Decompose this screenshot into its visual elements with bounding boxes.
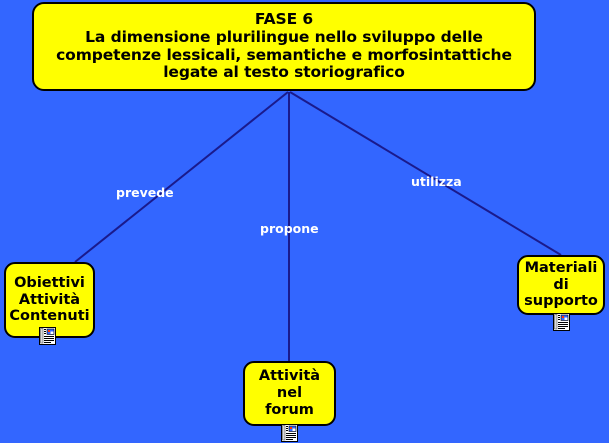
edge-label-propone: propone <box>260 221 319 236</box>
note-attachment-icon[interactable] <box>39 327 56 345</box>
edge-label-prevede: prevede <box>116 185 174 200</box>
note-attachment-icon[interactable] <box>281 424 298 442</box>
attivita-forum-node[interactable]: Attività nel forum <box>243 361 336 426</box>
edge-label-utilizza: utilizza <box>411 174 462 189</box>
materiali-supporto-node[interactable]: Materiali di supporto <box>517 255 605 315</box>
concept-map-canvas: FASE 6 La dimensione plurilingue nello s… <box>0 0 609 443</box>
fase-6-root-node[interactable]: FASE 6 La dimensione plurilingue nello s… <box>32 2 536 91</box>
edge-line-prevede <box>75 92 288 262</box>
note-attachment-icon[interactable] <box>553 313 570 331</box>
